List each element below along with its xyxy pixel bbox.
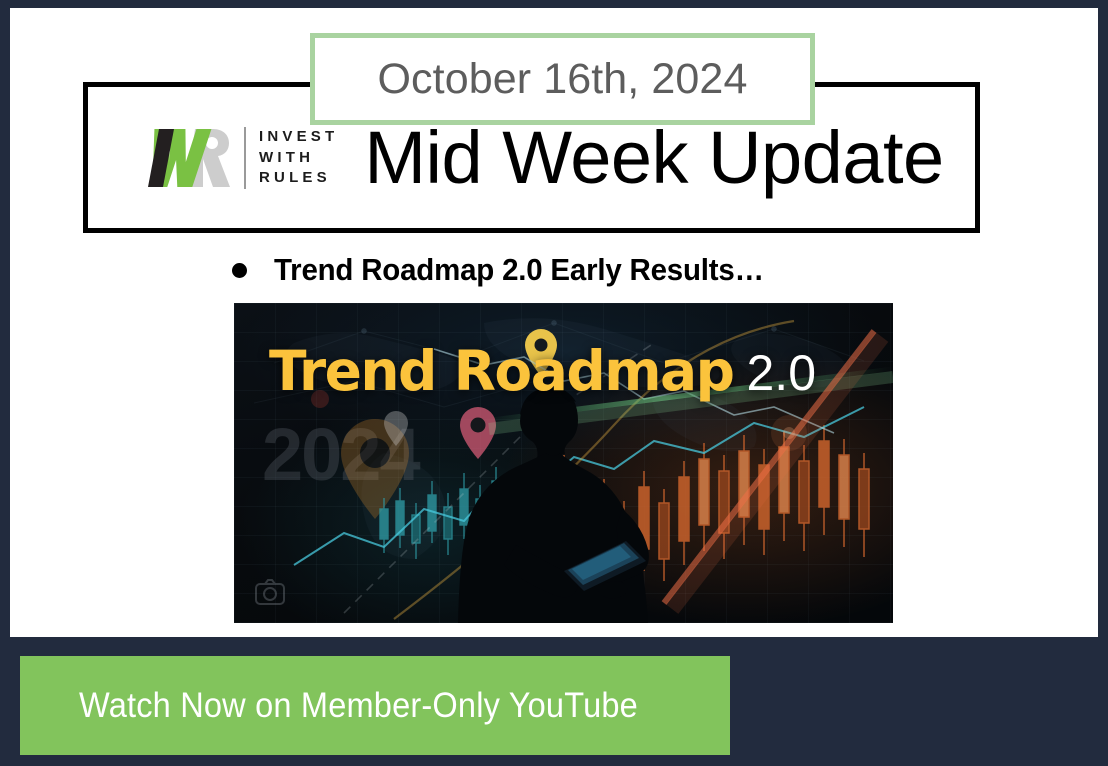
watch-now-button[interactable]: Watch Now on Member-Only YouTube [20,656,730,755]
logo-wordmark-line-2: WITH [259,150,338,166]
thumbnail-title-version: 2.0 [747,348,817,398]
bullet-list-item: Trend Roadmap 2.0 Early Results… [10,252,1098,288]
video-thumbnail[interactable]: 2024 [234,303,893,623]
camera-lens-icon [255,579,285,605]
email-root: INVEST WITH RULES Mid Week Update Octobe… [0,0,1108,766]
date-badge-label: October 16th, 2024 [378,58,748,101]
content-card: INVEST WITH RULES Mid Week Update Octobe… [10,8,1098,637]
watch-now-button-label: Watch Now on Member-Only YouTube [79,686,638,726]
logo-wordmark: INVEST WITH RULES [259,129,338,186]
thumbnail-title-main: Trend Roadmap [269,344,734,399]
thumbnail-title: Trend Roadmap 2.0 [269,344,816,399]
brand-logo: INVEST WITH RULES [143,118,338,198]
bullet-item-label: Trend Roadmap 2.0 Early Results… [274,252,764,288]
page-title: Mid Week Update [364,121,943,195]
logo-wordmark-line-1: INVEST [259,129,338,145]
cta-strip: Watch Now on Member-Only YouTube [0,637,1108,766]
bullet-dot-icon [232,263,247,278]
header-block: INVEST WITH RULES Mid Week Update Octobe… [10,8,1098,238]
logo-wordmark-line-3: RULES [259,170,338,186]
iwr-monogram-icon [143,125,235,191]
date-badge: October 16th, 2024 [310,33,815,125]
logo-divider [244,127,246,189]
